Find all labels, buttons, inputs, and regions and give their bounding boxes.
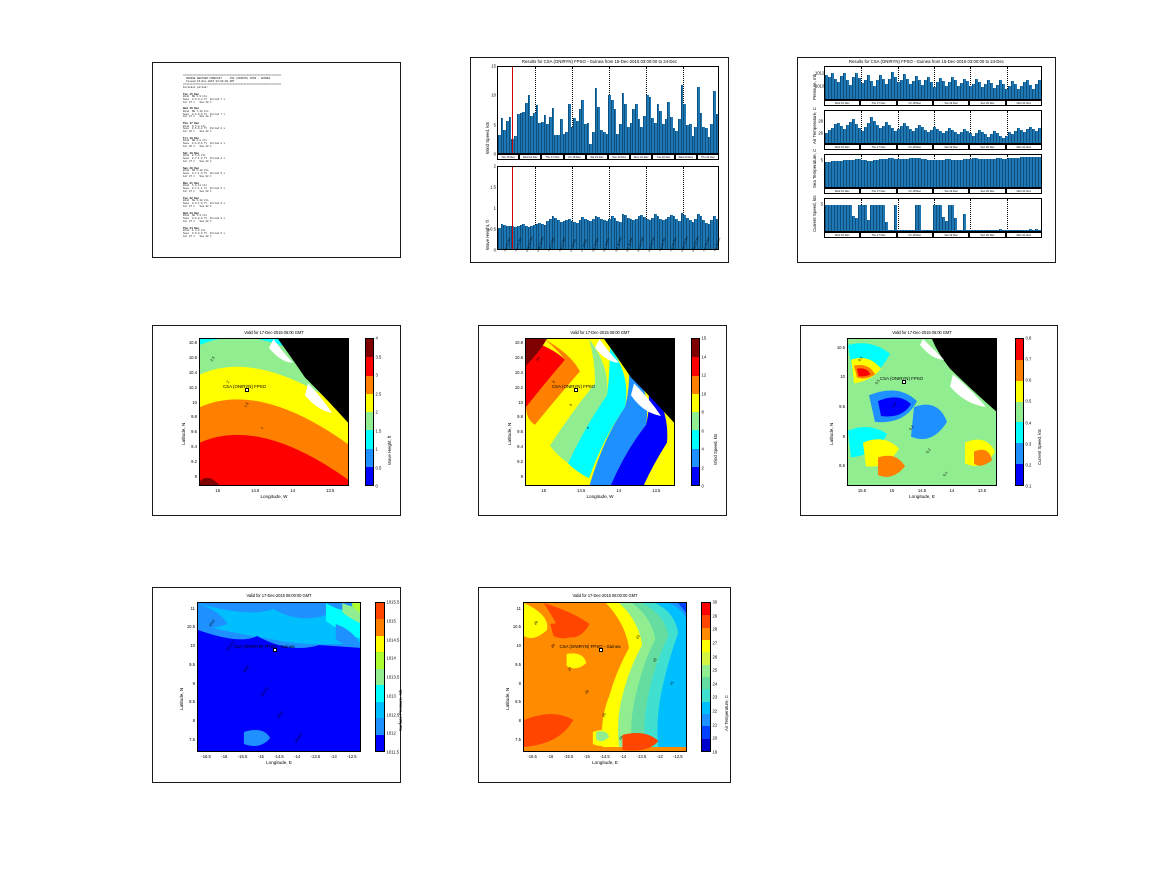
bar-series xyxy=(825,67,1041,99)
colorbar-tick-label: 21 xyxy=(713,722,718,727)
report-day-line: Air 27 C Sea 28 C xyxy=(183,191,394,194)
date-tick-box: Wed 16 Dec xyxy=(824,100,860,106)
colorbar-tick-label: 1013.5 xyxy=(387,675,400,680)
report-day-block: Sat 19 DecWind W 5-9 ktsSeas 0.7-1.0 ft … xyxy=(183,152,394,164)
x-tick-label: -13 xyxy=(325,754,343,759)
y-tick-label: 8.5 xyxy=(183,699,195,704)
wind-contour-field xyxy=(526,339,675,486)
map-plot-area[interactable]: 2.521.51CSA (ONIRYN) FPSO xyxy=(199,338,349,486)
y-tick-label: 11 xyxy=(183,606,195,611)
y-tick-label: 2 xyxy=(488,164,496,169)
date-tick-box: Fri 18 Dec xyxy=(897,188,933,194)
colorbar-segment xyxy=(702,628,710,640)
colorbar-segment xyxy=(366,357,373,375)
colorbar-tick-label: 27 xyxy=(713,640,718,645)
x-tick-label: 15 xyxy=(209,488,227,493)
x-tick-label: -16.5 xyxy=(523,754,541,759)
bar xyxy=(894,205,897,231)
issue-time-marker xyxy=(512,167,513,249)
site-label: CSA (ONIRYN) FPSO - Guinea xyxy=(559,644,620,649)
colorbar-segment xyxy=(1016,360,1023,381)
y-axis-label: Latitude, N xyxy=(829,422,834,444)
report-day-block: Sun 20 DecWind SW 6-10 ktsSeas 0.7-1.0 f… xyxy=(183,167,394,179)
pressure-contour-field xyxy=(198,603,361,752)
colorbar-segment xyxy=(692,357,699,375)
bar-series xyxy=(825,199,1041,231)
y-tick-label: 10 xyxy=(488,93,496,98)
y-tick-label: 10 xyxy=(185,400,197,405)
colorbar-segment xyxy=(692,394,699,412)
colorbar-tick-label: 0.4 xyxy=(1026,420,1032,425)
timeseries-subplot xyxy=(824,66,1042,100)
air-temperature-map-panel: Valid for 17-Dec-2015 06:00:00 GMT292827… xyxy=(478,587,731,783)
x-tick-label: 13.5 xyxy=(647,488,665,493)
y-tick-label: 10.5 xyxy=(833,345,845,350)
colorbar-segment xyxy=(692,467,699,485)
colorbar xyxy=(701,602,711,752)
y-tick-label: 10.6 xyxy=(185,355,197,360)
timeseries-subplot xyxy=(497,66,719,154)
y-tick-label: 9.8 xyxy=(185,414,197,419)
colorbar-tick-label: 24 xyxy=(713,681,718,686)
report-day-block: Wed 16 DecWind NE 7-10 ktsSeas 0.6-0.9 f… xyxy=(183,107,394,119)
date-tick-box: Tue 22 Dec xyxy=(652,154,674,160)
report-day-line: Air 27 C Sea 28 C xyxy=(183,221,394,224)
x-tick-label: 15 xyxy=(535,488,553,493)
y-tick-label: 9.5 xyxy=(833,404,845,409)
x-axis-label: Longitude, W xyxy=(525,494,675,499)
colorbar-segment xyxy=(692,376,699,394)
x-tick-label: -12.5 xyxy=(343,754,361,759)
colorbar-label: Wave Height, ft xyxy=(387,436,392,465)
colorbar-segment xyxy=(366,394,373,412)
y-axis-label: Latitude, N xyxy=(507,422,512,444)
x-tick-label: -15 xyxy=(252,754,270,759)
y-tick-label: 8 xyxy=(183,718,195,723)
y-tick-label: 9.4 xyxy=(185,444,197,449)
colorbar-tick-label: 23 xyxy=(713,695,718,700)
date-tick-box: Fri 18 Dec xyxy=(897,100,933,106)
colorbar-tick-label: 4 xyxy=(376,336,378,341)
colorbar-segment xyxy=(702,726,710,738)
date-tick-box: Sun 20 Dec xyxy=(969,144,1005,150)
y-tick-label: 8.5 xyxy=(833,463,845,468)
y-tick-label: 8.5 xyxy=(509,699,521,704)
y-axis-label: Wave Height, ft xyxy=(485,220,490,250)
date-tick-box: Wed 16 Dec xyxy=(519,154,541,160)
x-tick-label: 14.5 xyxy=(572,488,590,493)
report-body: ========================================… xyxy=(183,75,394,253)
report-day-block: Tue 15 DecWind NE 6-9 ktsSeas 0.5-0.8 ft… xyxy=(183,93,394,105)
colorbar-segment xyxy=(366,430,373,448)
colorbar-segment xyxy=(1016,381,1023,402)
colorbar-segment xyxy=(1016,464,1023,485)
colorbar-tick-label: 20 xyxy=(713,736,718,741)
site-label: CSA (ONIRYN) FPSO - Guinea xyxy=(233,644,294,649)
colorbar-segment xyxy=(702,714,710,726)
report-day-block: Tue 22 DecWind SE 5-10 ktsSeas 0.6-1.0 f… xyxy=(183,197,394,209)
colorbar-tick-label: 0.5 xyxy=(376,465,382,470)
colorbar-label: Wind Speed, kts xyxy=(713,434,718,465)
colorbar xyxy=(375,602,385,752)
y-tick-label: 10.5 xyxy=(509,624,521,629)
x-axis-label: Longitude, E xyxy=(523,760,687,765)
bar xyxy=(1038,230,1041,231)
colorbar-tick-label: 1014 xyxy=(387,656,396,661)
colorbar-segment xyxy=(702,615,710,627)
report-day-line: Air 27 C Sea 28 C xyxy=(183,236,394,239)
date-tick-box: Tue 15 Dec xyxy=(497,154,519,160)
bar xyxy=(918,205,921,231)
date-tick-box: Sun 20 Dec xyxy=(969,100,1005,106)
x-tick-label: 14.5 xyxy=(913,488,931,493)
x-axis-label: Longitude, W xyxy=(199,494,349,499)
colorbar-tick-label: 0.2 xyxy=(1026,462,1032,467)
colorbar-segment xyxy=(376,603,384,619)
report-day-block: Mon 21 DecWind S 6-11 ktsSeas 0.7-1.1 ft… xyxy=(183,182,394,194)
colorbar-segment xyxy=(702,739,710,751)
timeseries-subplot xyxy=(824,198,1042,232)
x-tick-label: -14.5 xyxy=(596,754,614,759)
y-tick-label: 9 xyxy=(185,474,197,479)
site-label: CSA (ONIRYN) FPSO xyxy=(880,376,923,381)
colorbar-tick-label: 1012 xyxy=(387,731,396,736)
y-tick-label: 7.5 xyxy=(183,737,195,742)
colorbar-label: Current Speed, kts xyxy=(1037,429,1042,465)
colorbar-tick-label: 1011.5 xyxy=(387,750,400,755)
colorbar-segment xyxy=(366,339,373,357)
report-day-line: Air 27 C Sea 28 C xyxy=(183,161,394,164)
colorbar-segment xyxy=(1016,443,1023,464)
y-tick-label: 1 xyxy=(488,206,496,211)
y-tick-label: 10 xyxy=(511,400,523,405)
colorbar-tick-label: 12 xyxy=(702,373,707,378)
bar-series xyxy=(498,67,718,153)
map-plot-area[interactable]: 292827262524232221CSA (ONIRYN) FPSO - Gu… xyxy=(523,602,687,752)
colorbar-tick-label: 19 xyxy=(713,750,718,755)
y-tick-label: 10.4 xyxy=(511,370,523,375)
colorbar-tick-label: 1015 xyxy=(387,618,396,623)
y-tick-label: 9.2 xyxy=(511,459,523,464)
bar xyxy=(1038,157,1041,187)
colorbar-tick-label: 28 xyxy=(713,627,718,632)
date-tick-box: Sun 20 Dec xyxy=(969,188,1005,194)
colorbar-tick-label: 1015.5 xyxy=(387,600,400,605)
x-tick-label: 15.5 xyxy=(853,488,871,493)
colorbar-segment xyxy=(702,652,710,664)
colorbar-tick-label: 0.7 xyxy=(1026,357,1032,362)
colorbar-tick-label: 0 xyxy=(702,484,704,489)
y-tick-label: 9.5 xyxy=(509,662,521,667)
date-tick-box: Wed 16 Dec xyxy=(824,144,860,150)
colorbar-segment xyxy=(366,449,373,467)
y-axis-label: Current Speed, kts xyxy=(812,195,817,232)
colorbar-segment xyxy=(1016,339,1023,360)
x-tick-label: 14 xyxy=(284,488,302,493)
surface-pressure-map-panel: Valid for 17-Dec-2015 06:00:00 GMT101210… xyxy=(152,587,401,783)
colorbar-tick-label: 22 xyxy=(713,709,718,714)
date-tick-box: Mon 21 Dec xyxy=(630,154,652,160)
colorbar-tick-label: 29 xyxy=(713,613,718,618)
y-tick-label: 9.2 xyxy=(185,459,197,464)
report-day-block: Thu 17 DecWind N 5-8 ktsSeas 0.6-0.8 ft … xyxy=(183,122,394,134)
x-tick-label: -14 xyxy=(288,754,306,759)
map-title: Valid for 17-Dec-2015 06:00 GMT xyxy=(847,330,997,335)
y-tick-label: 15 xyxy=(488,64,496,69)
date-tick-box: Sat 19 Dec xyxy=(933,144,969,150)
colorbar-segment xyxy=(702,689,710,701)
y-tick-label: 10.4 xyxy=(185,370,197,375)
colorbar-segment xyxy=(376,669,384,685)
bar-series xyxy=(825,155,1041,187)
report-day-block: Wed 23 DecWind SE 5-9 ktsSeas 0.6-0.9 ft… xyxy=(183,212,394,224)
y-axis-label: Air Temperature, C xyxy=(812,107,817,144)
site-label: CSA (ONIRYN) FPSO xyxy=(223,384,266,389)
colorbar-segment xyxy=(692,430,699,448)
x-tick-label: 14 xyxy=(610,488,628,493)
colorbar-tick-label: 3.5 xyxy=(376,354,382,359)
colorbar-tick-label: 2 xyxy=(376,410,378,415)
date-tick-box: Mon 21 Dec xyxy=(1006,100,1042,106)
y-tick-label: 9 xyxy=(833,434,845,439)
y-axis-label: Latitude, N xyxy=(181,422,186,444)
bar-series xyxy=(825,111,1041,143)
timeseries-subplot xyxy=(824,110,1042,144)
colorbar-tick-label: 1013 xyxy=(387,693,396,698)
colorbar-segment xyxy=(1016,422,1023,443)
y-tick-label: 10 xyxy=(183,643,195,648)
x-tick-label: 13.5 xyxy=(973,488,991,493)
y-axis-label: Latitude, N xyxy=(179,688,184,710)
date-tick-box: Thu 17 Dec xyxy=(860,188,896,194)
date-tick-box: Mon 21 Dec xyxy=(1006,144,1042,150)
x-tick-label: 14.5 xyxy=(246,488,264,493)
colorbar-segment xyxy=(692,339,699,357)
date-tick-box: Fri 18 Dec xyxy=(564,154,586,160)
timeseries-title: Results for CSA (ONIRYN) FPSO - Guinea f… xyxy=(800,59,1053,64)
colorbar-segment xyxy=(366,376,373,394)
colorbar-tick-label: 0.5 xyxy=(1026,399,1032,404)
date-tick-box: Sat 19 Dec xyxy=(933,100,969,106)
colorbar-label: Surface Pressure, mb xyxy=(398,689,403,731)
report-day-line: Air 26 C Sea 28 C xyxy=(183,146,394,149)
x-tick-label: -16.5 xyxy=(197,754,215,759)
date-tick-box: Fri 18 Dec xyxy=(897,232,933,238)
colorbar xyxy=(1015,338,1024,486)
timeseries-title: Results for CSA (ONIRYN) FPSO - Guinea f… xyxy=(473,59,726,64)
site-label: CSA (ONIRYN) FPSO xyxy=(552,384,595,389)
colorbar-segment xyxy=(376,685,384,701)
colorbar-segment xyxy=(692,412,699,430)
colorbar-tick-label: 2.5 xyxy=(376,391,382,396)
report-day-block: Thu 24 DecWind E 4-9 ktsSeas 0.5-0.9 ft … xyxy=(183,227,394,239)
date-tick-box: Thu 17 Dec xyxy=(860,144,896,150)
date-tick-box: Sat 19 Dec xyxy=(933,232,969,238)
colorbar-tick-label: 0.6 xyxy=(1026,378,1032,383)
colorbar-tick-label: 1014.5 xyxy=(387,637,400,642)
report-header: ========================================… xyxy=(183,75,394,90)
x-tick-label: -15.5 xyxy=(560,754,578,759)
x-tick-label: 13.5 xyxy=(321,488,339,493)
y-tick-label: 7.5 xyxy=(509,737,521,742)
colorbar-segment xyxy=(376,702,384,718)
colorbar-segment xyxy=(1016,402,1023,423)
colorbar-tick-label: 26 xyxy=(713,654,718,659)
date-tick-box: Sat 19 Dec xyxy=(933,188,969,194)
x-tick-label: -15 xyxy=(578,754,596,759)
date-tick-box: Sun 20 Dec xyxy=(608,154,630,160)
colorbar-tick-label: 0.8 xyxy=(1026,336,1032,341)
colorbar-segment xyxy=(702,640,710,652)
y-axis-label: Pressure, mb xyxy=(812,74,817,100)
y-tick-label: 9.5 xyxy=(183,662,195,667)
report-day-line: Air 27 C Sea 28 C xyxy=(183,176,394,179)
y-tick-label: 10 xyxy=(509,643,521,648)
y-tick-label: 10.2 xyxy=(511,385,523,390)
y-tick-label: 9 xyxy=(183,681,195,686)
x-tick-label: 14 xyxy=(943,488,961,493)
date-tick-box: Mon 21 Dec xyxy=(1006,188,1042,194)
colorbar-tick-label: 1.5 xyxy=(376,428,382,433)
date-tick-box: Thu 17 Dec xyxy=(541,154,563,160)
colorbar xyxy=(691,338,700,486)
colorbar-segment xyxy=(376,636,384,652)
y-tick-label: 10.2 xyxy=(185,385,197,390)
colorbar-tick-label: 15 xyxy=(702,336,707,341)
y-axis-label: Sea Temperature, C xyxy=(812,149,817,188)
map-plot-area[interactable]: 0.60.50.40.30.20.1CSA (ONIRYN) FPSO xyxy=(847,338,997,486)
colorbar-tick-label: 30 xyxy=(713,600,718,605)
x-tick-label: -14 xyxy=(614,754,632,759)
map-title: Valid for 17-Dec-2015 06:00:00 GMT xyxy=(197,593,361,598)
report-day-block: Fri 18 DecWind NW 4-8 ktsSeas 0.6-0.9 ft… xyxy=(183,137,394,149)
colorbar-segment xyxy=(702,702,710,714)
temperature-contour-field xyxy=(524,603,687,752)
date-tick-box: Mon 21 Dec xyxy=(1006,232,1042,238)
colorbar-tick-label: 6 xyxy=(702,428,704,433)
bar xyxy=(1038,128,1041,143)
colorbar-segment xyxy=(702,665,710,677)
wave-height-map-panel: Valid for 17-Dec-2015 06:00 GMT2.521.51C… xyxy=(152,325,401,516)
date-tick-box: Thu 17 Dec xyxy=(860,100,896,106)
y-tick-label: 9.6 xyxy=(511,429,523,434)
date-tick-box: Wed 16 Dec xyxy=(824,232,860,238)
colorbar-segment xyxy=(702,677,710,689)
map-title: Valid for 17-Dec-2015 06:00:00 GMT xyxy=(523,593,687,598)
current-contour-field xyxy=(848,339,997,486)
map-plot-area[interactable]: 10121012.510131013.510141014.5CSA (ONIRY… xyxy=(197,602,361,752)
report-day-line: Air 26 C Sea 28 C xyxy=(183,131,394,134)
x-tick-label: -16 xyxy=(541,754,559,759)
x-axis-label: Longitude, E xyxy=(847,494,997,499)
y-tick-label: 10.6 xyxy=(511,355,523,360)
y-tick-label: 9 xyxy=(509,681,521,686)
x-tick-label: -16 xyxy=(215,754,233,759)
bar xyxy=(716,114,719,153)
x-tick-label: 15 xyxy=(883,488,901,493)
colorbar-label: Air Temperature, C xyxy=(724,695,729,731)
colorbar-segment xyxy=(376,718,384,734)
forecast-text-report-panel: ========================================… xyxy=(152,62,401,258)
colorbar-tick-label: 10 xyxy=(702,391,707,396)
x-tick-label: -15.5 xyxy=(234,754,252,759)
y-axis-label: Latitude, N xyxy=(505,688,510,710)
current-speed-map-panel: Valid for 17-Dec-2015 06:00 GMT0.60.50.4… xyxy=(800,325,1058,516)
colorbar-tick-label: 0.3 xyxy=(1026,441,1032,446)
x-tick-label: -14.5 xyxy=(270,754,288,759)
colorbar-segment xyxy=(692,449,699,467)
y-tick-label: 9.8 xyxy=(511,414,523,419)
map-plot-area[interactable]: 10864CSA (ONIRYN) FPSO xyxy=(525,338,675,486)
date-tick-box: Thu 17 Dec xyxy=(860,232,896,238)
colorbar xyxy=(365,338,374,486)
date-tick-box: Wed 23 Dec xyxy=(675,154,697,160)
map-title: Valid for 17-Dec-2015 06:00 GMT xyxy=(199,330,349,335)
colorbar-tick-label: 0.1 xyxy=(1026,484,1032,489)
colorbar-segment xyxy=(376,619,384,635)
colorbar-segment xyxy=(366,412,373,430)
colorbar-segment xyxy=(376,735,384,751)
date-tick-box: Sun 20 Dec xyxy=(969,232,1005,238)
colorbar-segment xyxy=(702,603,710,615)
bar xyxy=(963,214,966,231)
colorbar-tick-label: 25 xyxy=(713,668,718,673)
map-title: Valid for 17-Dec-2015 06:00 GMT xyxy=(525,330,675,335)
date-tick-box: Sat 19 Dec xyxy=(586,154,608,160)
y-tick-label: 9 xyxy=(511,474,523,479)
y-axis-label: Wind Speed, kts xyxy=(485,122,490,154)
report-day-line: Air 27 C Sea 28 C xyxy=(183,206,394,209)
y-tick-label: 9.4 xyxy=(511,444,523,449)
colorbar-segment xyxy=(366,467,373,485)
y-tick-label: 10.5 xyxy=(183,624,195,629)
report-day-line: Air 27 C Sea 28 C xyxy=(183,102,394,105)
y-tick-label: 10.8 xyxy=(511,340,523,345)
date-tick-box: Thu 24 Dec xyxy=(697,154,719,160)
wind-speed-map-panel: Valid for 17-Dec-2015 06:00 GMT10864CSA … xyxy=(478,325,727,516)
x-axis-label: Longitude, E xyxy=(197,760,361,765)
report-header-line: Forecast period: xyxy=(183,87,394,90)
x-tick-label: -13.5 xyxy=(306,754,324,759)
bar xyxy=(1038,80,1041,99)
y-tick-label: 10 xyxy=(833,374,845,379)
y-tick-label: 9.6 xyxy=(185,429,197,434)
wind-wave-timeseries-panel: Results for CSA (ONIRYN) FPSO - Guinea f… xyxy=(470,57,729,263)
wave-contour-field xyxy=(200,339,349,486)
pressure-temp-timeseries-panel: Results for CSA (ONIRYN) FPSO - Guinea f… xyxy=(797,57,1056,263)
timeseries-subplot xyxy=(824,154,1042,188)
report-day-blocks: Tue 15 DecWind NE 6-9 ktsSeas 0.5-0.8 ft… xyxy=(183,93,394,240)
colorbar-tick-label: 8 xyxy=(702,410,704,415)
issue-time-marker xyxy=(512,67,513,153)
x-tick-label: -13.5 xyxy=(632,754,650,759)
colorbar-tick-label: 14 xyxy=(702,354,707,359)
colorbar-tick-label: 3 xyxy=(376,373,378,378)
date-tick-box: Wed 16 Dec xyxy=(824,188,860,194)
x-tick-label: -12.5 xyxy=(669,754,687,759)
colorbar-tick-label: 4 xyxy=(702,447,704,452)
y-tick-label: 1.5 xyxy=(488,185,496,190)
report-day-line: Air 27 C Sea 28 C xyxy=(183,116,394,119)
date-tick-box: Fri 18 Dec xyxy=(897,144,933,150)
colorbar-tick-label: 1 xyxy=(376,447,378,452)
colorbar-segment xyxy=(376,652,384,668)
colorbar-tick-label: 2 xyxy=(702,465,704,470)
y-tick-label: 10.8 xyxy=(185,340,197,345)
y-tick-label: 11 xyxy=(509,606,521,611)
y-tick-label: 8 xyxy=(509,718,521,723)
colorbar-tick-label: 0 xyxy=(376,484,378,489)
